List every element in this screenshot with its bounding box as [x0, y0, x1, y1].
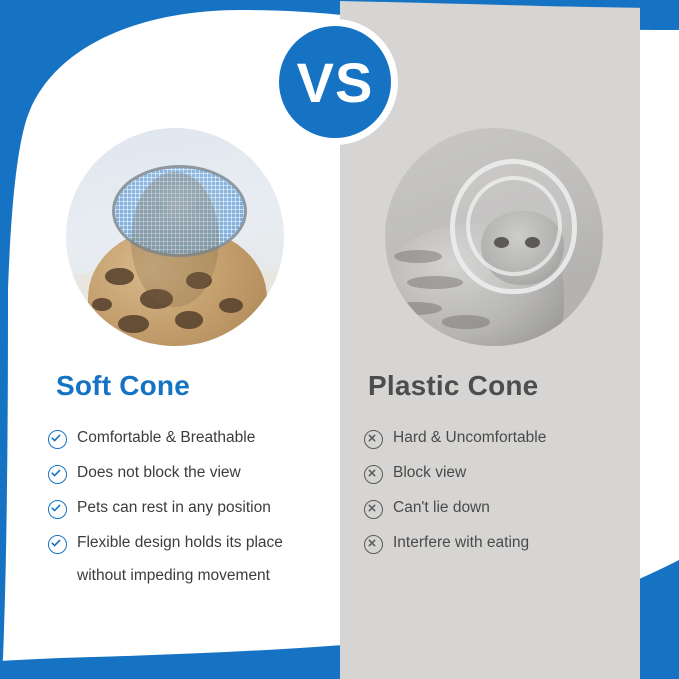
- check-circle-icon: [48, 430, 67, 449]
- list-item-label: Flexible design holds its place without …: [77, 533, 338, 587]
- vs-badge: VS: [272, 19, 398, 145]
- list-item-line2: without impeding movement: [77, 566, 338, 587]
- plastic-cone-feature-list: Hard & Uncomfortable Block view Can't li…: [364, 428, 644, 554]
- vs-label: VS: [297, 50, 374, 115]
- list-item-label: Interfere with eating: [393, 533, 644, 554]
- plastic-cone-photo: [385, 128, 603, 346]
- list-item: Comfortable & Breathable: [48, 428, 338, 449]
- plastic-cone-title: Plastic Cone: [364, 370, 644, 402]
- soft-cone-column: Soft Cone Comfortable & Breathable Does …: [48, 370, 338, 601]
- list-item-label: Comfortable & Breathable: [77, 428, 338, 449]
- cross-circle-icon: [364, 430, 383, 449]
- cross-circle-icon: [364, 500, 383, 519]
- list-item: Can't lie down: [364, 498, 644, 519]
- list-item: Pets can rest in any position: [48, 498, 338, 519]
- list-item-label: Pets can rest in any position: [77, 498, 338, 519]
- plastic-cone-column: Plastic Cone Hard & Uncomfortable Block …: [364, 370, 644, 568]
- check-circle-icon: [48, 535, 67, 554]
- check-circle-icon: [48, 500, 67, 519]
- soft-cone-photo: [66, 128, 284, 346]
- comparison-infographic: VS Soft Cone: [0, 0, 679, 679]
- list-item: Interfere with eating: [364, 533, 644, 554]
- soft-cone-feature-list: Comfortable & Breathable Does not block …: [48, 428, 338, 587]
- list-item: Block view: [364, 463, 644, 484]
- cross-circle-icon: [364, 465, 383, 484]
- list-item-label: Does not block the view: [77, 463, 338, 484]
- list-item: Flexible design holds its place without …: [48, 533, 338, 587]
- list-item-line1: Flexible design holds its place: [77, 534, 283, 551]
- check-circle-icon: [48, 465, 67, 484]
- list-item: Does not block the view: [48, 463, 338, 484]
- list-item-label: Can't lie down: [393, 498, 644, 519]
- soft-cone-title: Soft Cone: [48, 370, 338, 402]
- list-item-label: Hard & Uncomfortable: [393, 428, 644, 449]
- list-item: Hard & Uncomfortable: [364, 428, 644, 449]
- cross-circle-icon: [364, 535, 383, 554]
- list-item-label: Block view: [393, 463, 644, 484]
